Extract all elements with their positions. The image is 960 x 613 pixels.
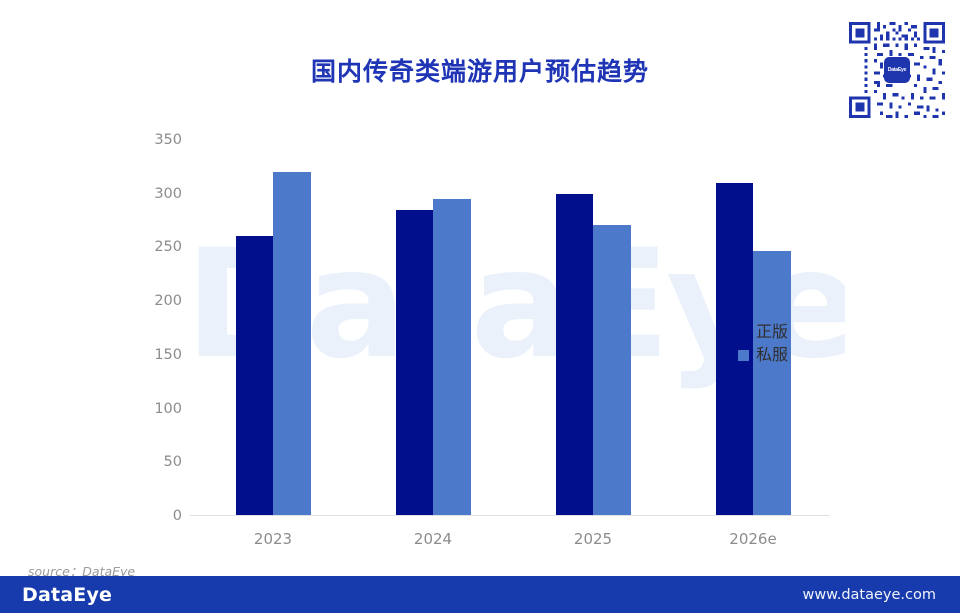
bar-2023-私服[interactable] xyxy=(273,172,311,516)
legend-label: 私服 xyxy=(756,347,788,363)
x-axis-tick-label: 2025 xyxy=(574,530,612,548)
y-axis-tick-label: 50 xyxy=(128,454,182,470)
y-axis-tick-label: 100 xyxy=(128,401,182,417)
y-axis-tick-label: 300 xyxy=(128,186,182,202)
y-axis-labels: 050100150200250300350 xyxy=(128,140,182,516)
footer-url[interactable]: www.dataeye.com xyxy=(802,587,936,603)
bar-2025-私服[interactable] xyxy=(593,225,631,516)
y-axis-tick-label: 200 xyxy=(128,293,182,309)
legend-item-正版[interactable]: 正版 xyxy=(738,324,788,340)
y-axis-tick-label: 150 xyxy=(128,347,182,363)
legend-label: 正版 xyxy=(756,324,788,340)
x-axis-tick-label: 2026e xyxy=(729,530,776,548)
bar-2025-正版[interactable] xyxy=(556,194,594,516)
chart-title: 国内传奇类端游用户预估趋势 xyxy=(0,52,960,88)
x-axis-tick-label: 2024 xyxy=(414,530,452,548)
bar-2026e-私服[interactable] xyxy=(753,251,791,516)
chart-page: DataEye 国内传奇类端游用户预估趋势 DataEye 0501001502… xyxy=(0,0,960,613)
legend-swatch-icon xyxy=(738,327,749,338)
x-axis-tick-label: 2023 xyxy=(254,530,292,548)
footer-logo: DataEye xyxy=(22,584,112,606)
footer-bar: DataEye www.dataeye.com xyxy=(0,576,960,613)
y-axis-tick-label: 350 xyxy=(128,132,182,148)
bar-2024-私服[interactable] xyxy=(433,199,471,516)
y-axis-tick-label: 250 xyxy=(128,239,182,255)
x-axis-line xyxy=(190,515,830,516)
y-axis-tick-label: 0 xyxy=(128,508,182,524)
bar-2023-正版[interactable] xyxy=(236,236,274,516)
chart-legend: 正版私服 xyxy=(738,324,788,363)
plot-area: DataEye 050100150200250300350 2023202420… xyxy=(190,140,830,516)
x-axis-labels: 2023202420252026e xyxy=(190,530,830,556)
legend-swatch-icon xyxy=(738,350,749,361)
legend-item-私服[interactable]: 私服 xyxy=(738,347,788,363)
bar-2024-正版[interactable] xyxy=(396,210,434,516)
